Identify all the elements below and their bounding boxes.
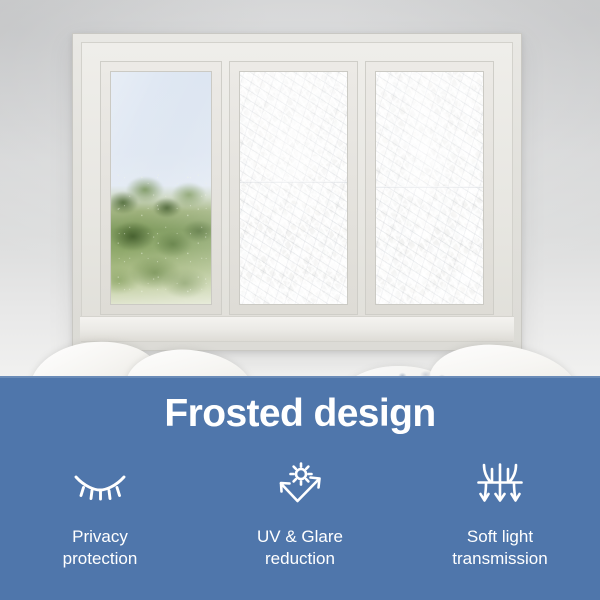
feature-list: Privacy protection (0, 462, 600, 570)
window-pane-frosted-right (365, 61, 494, 315)
window-pane-clear (100, 61, 222, 315)
headline: Frosted design (0, 394, 600, 433)
glass-reflection (111, 72, 211, 304)
feature-band: Frosted design Privacy protection (0, 376, 600, 600)
window-unit (72, 33, 522, 351)
window-photo-scene (0, 0, 600, 378)
product-feature-card: Frosted design Privacy protection (0, 0, 600, 600)
light-diffusion-arrows-icon (475, 462, 525, 508)
feature-soft-light-transmission: Soft light transmission (400, 462, 600, 570)
feature-privacy-protection: Privacy protection (0, 462, 200, 570)
sun-glare-deflect-icon (274, 462, 326, 508)
feature-label: Privacy protection (63, 526, 138, 570)
band-top-divider (0, 376, 600, 378)
feature-label: Soft light transmission (452, 526, 547, 570)
glass-opening-frosted-right (375, 71, 484, 305)
window-sash-row (100, 61, 494, 315)
frost-light-bloom (376, 72, 483, 304)
glass-opening-frosted-middle (239, 71, 348, 305)
frost-light-bloom (240, 72, 347, 304)
feature-label: UV & Glare reduction (257, 526, 343, 570)
window-sill (80, 316, 514, 341)
feature-uv-glare-reduction: UV & Glare reduction (200, 462, 400, 570)
window-casing (81, 42, 513, 342)
closed-eye-lashes-icon (72, 462, 128, 508)
window-pane-frosted-middle (229, 61, 358, 315)
glass-opening-clear (110, 71, 212, 305)
